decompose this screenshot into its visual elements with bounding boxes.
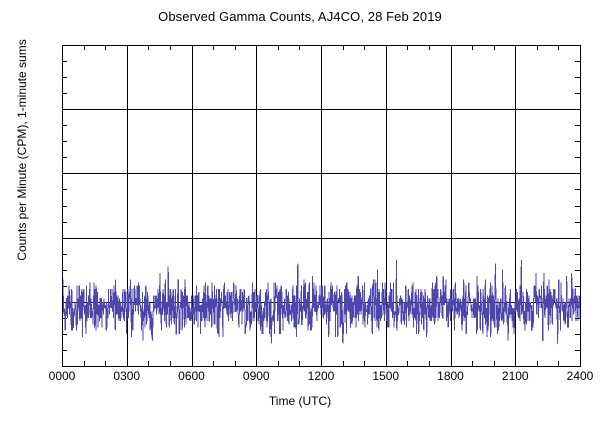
y-axis-label: Counts per Minute (CPM), 1-minute sums	[15, 20, 29, 280]
x-tick-label-0900: 0900	[226, 369, 286, 383]
x-tick-label-1800: 1800	[421, 369, 481, 383]
x-tick-label-0600: 0600	[162, 369, 222, 383]
x-tick-label-2100: 2100	[485, 369, 545, 383]
chart-title: Observed Gamma Counts, AJ4CO, 28 Feb 201…	[0, 9, 600, 24]
x-tick-label-0300: 0300	[97, 369, 157, 383]
x-tick-label-2400: 2400	[550, 369, 600, 383]
x-axis-label: Time (UTC)	[0, 394, 600, 408]
plot-canvas	[62, 45, 581, 367]
x-tick-label-1200: 1200	[291, 369, 351, 383]
chart-figure: Observed Gamma Counts, AJ4CO, 28 Feb 201…	[0, 0, 600, 428]
plot-area	[62, 45, 580, 366]
x-tick-label-0000: 0000	[32, 369, 92, 383]
x-tick-label-1500: 1500	[356, 369, 416, 383]
